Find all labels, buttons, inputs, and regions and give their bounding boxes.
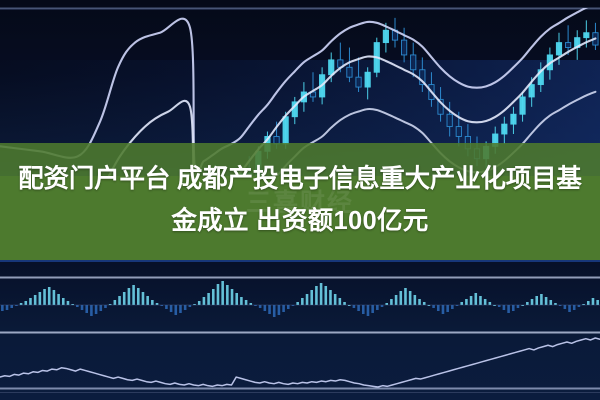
headline-text: 配资门户平台 成都产投电子信息重大产业化项目基 金成立 出资额100亿元	[0, 158, 600, 242]
headline-line-2: 金成立 出资额100亿元	[6, 200, 594, 242]
headline-line-1: 配资门户平台 成都产投电子信息重大产业化项目基	[6, 158, 594, 200]
news-banner-image: 三喜财经 配资门户平台 成都产投电子信息重大产业化项目基 金成立 出资额100亿…	[0, 0, 600, 400]
